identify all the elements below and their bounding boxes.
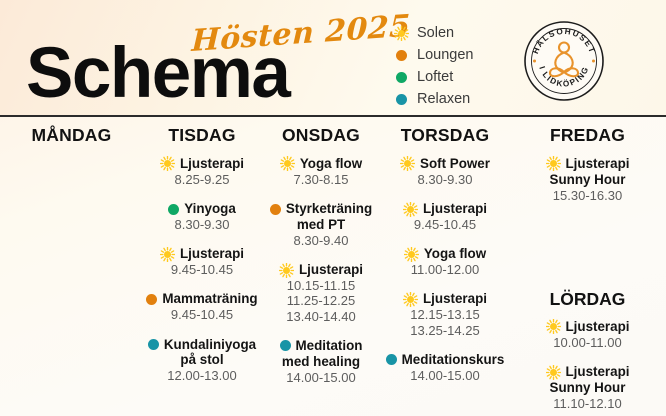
legend: SolenLoungenLoftetRelaxen: [392, 22, 502, 110]
event-time: 13.25-14.25: [381, 323, 509, 338]
event-list: Yoga flow7.30-8.15Styrketräningmed PT8.3…: [261, 156, 381, 385]
event-time: 8.30-9.30: [381, 172, 509, 187]
schedule-event[interactable]: Ljusterapi9.45-10.45: [381, 201, 509, 232]
legend-marker: [392, 94, 410, 105]
page-title: Schema: [26, 38, 289, 109]
event-title: Ljusterapi: [566, 319, 630, 335]
event-title-line: Ljusterapi: [143, 246, 261, 262]
schedule-event[interactable]: Ljusterapi12.15-13.1513.25-14.25: [381, 291, 509, 337]
schedule-event[interactable]: Yinyoga8.30-9.30: [143, 201, 261, 232]
event-title-line: Ljusterapi: [143, 156, 261, 172]
event-time: 11.00-12.00: [381, 262, 509, 277]
event-title-line: Yinyoga: [143, 201, 261, 217]
event-title: Ljusterapi: [423, 291, 487, 307]
day-header: TORSDAG: [381, 125, 509, 146]
legend-item-relaxen: Relaxen: [392, 88, 502, 110]
event-time: 15.30-16.30: [509, 188, 666, 203]
event-title-second-line: med PT: [261, 217, 381, 233]
event-title: Ljusterapi: [423, 201, 487, 217]
event-time: 9.45-10.45: [143, 262, 261, 277]
schedule-event[interactable]: Meditationmed healing14.00-15.00: [261, 338, 381, 385]
schedule-event[interactable]: Styrketräningmed PT8.30-9.40: [261, 201, 381, 248]
event-time: 11.10-12.10: [509, 396, 666, 411]
legend-marker: [392, 26, 410, 41]
event-title: Meditation: [296, 338, 363, 354]
schedule-event[interactable]: Kundaliniyogapå stol12.00-13.00: [143, 337, 261, 384]
orange-dot-icon: [270, 204, 281, 215]
event-title-line: Kundaliniyoga: [143, 337, 261, 353]
event-time: 14.00-15.00: [261, 370, 381, 385]
legend-item-label: Relaxen: [417, 91, 470, 107]
event-title-line: Ljusterapi: [381, 291, 509, 307]
event-time: 13.40-14.40: [261, 309, 381, 324]
schedule-event[interactable]: LjusterapiSunny Hour15.30-16.30: [509, 156, 666, 203]
sun-icon: [279, 263, 294, 278]
day-header: ONSDAG: [261, 125, 381, 146]
teal-dot-icon: [396, 94, 407, 105]
schedule-event[interactable]: Yoga flow11.00-12.00: [381, 246, 509, 277]
sun-icon: [546, 365, 561, 380]
sun-icon: [404, 247, 419, 262]
logo-svg: HÄLSOHUSET I LIDKÖPING: [522, 19, 606, 103]
event-title: Ljusterapi: [566, 156, 630, 172]
day-header: FREDAG: [509, 125, 666, 146]
event-title-line: Styrketräning: [261, 201, 381, 217]
poster-header: Hösten 2025 Schema SolenLoungenLoftetRel…: [0, 0, 666, 117]
orange-dot-icon: [396, 50, 407, 61]
legend-item-solen: Solen: [392, 22, 502, 44]
event-title: Yoga flow: [424, 246, 486, 262]
event-title-second-line: Sunny Hour: [509, 380, 666, 396]
event-title-line: Ljusterapi: [381, 201, 509, 217]
event-time: 12.00-13.00: [143, 368, 261, 383]
event-list-secondary: Ljusterapi10.00-11.00 LjusterapiSunny Ho…: [509, 319, 666, 411]
event-title: Yoga flow: [300, 156, 362, 172]
sun-icon: [280, 156, 295, 171]
schedule-event[interactable]: Ljusterapi10.00-11.00: [509, 319, 666, 350]
event-title-line: Meditationskurs: [381, 352, 509, 368]
day-column-torsdag: TORSDAG Soft Power8.30-9.30 Ljusterapi9.…: [381, 119, 509, 416]
event-time: 14.00-15.00: [381, 368, 509, 383]
schedule-event[interactable]: Meditationskurs14.00-15.00: [381, 352, 509, 383]
event-time: 8.30-9.30: [143, 217, 261, 232]
schedule-event[interactable]: LjusterapiSunny Hour11.10-12.10: [509, 364, 666, 411]
event-title-line: Soft Power: [381, 156, 509, 172]
sun-icon: [403, 202, 418, 217]
event-title: Ljusterapi: [180, 246, 244, 262]
event-time: 11.25-12.25: [261, 293, 381, 308]
event-title-line: Ljusterapi: [261, 262, 381, 278]
legend-marker: [392, 72, 410, 83]
day-header-secondary: LÖRDAG: [509, 289, 666, 310]
legend-item-loftet: Loftet: [392, 66, 502, 88]
event-title: Styrketräning: [286, 201, 372, 217]
event-time: 8.25-9.25: [143, 172, 261, 187]
event-time: 10.15-11.15: [261, 278, 381, 293]
event-list: LjusterapiSunny Hour15.30-16.30: [509, 156, 666, 203]
event-title-second-line: Sunny Hour: [509, 172, 666, 188]
event-title-second-line: med healing: [261, 354, 381, 370]
event-time: 8.30-9.40: [261, 233, 381, 248]
event-title-second-line: på stol: [143, 352, 261, 368]
day-header: TISDAG: [143, 125, 261, 146]
column-spacer: [509, 217, 666, 289]
green-dot-icon: [168, 204, 179, 215]
event-title-line: Yoga flow: [261, 156, 381, 172]
event-list: Ljusterapi8.25-9.25Yinyoga8.30-9.30 Ljus…: [143, 156, 261, 384]
legend-item-label: Loftet: [417, 69, 453, 85]
day-column-måndag: MÅNDAG: [0, 119, 143, 416]
sun-icon: [400, 156, 415, 171]
schedule-event[interactable]: Ljusterapi8.25-9.25: [143, 156, 261, 187]
sun-icon: [546, 156, 561, 171]
sun-icon: [160, 156, 175, 171]
legend-item-label: Solen: [417, 25, 454, 41]
event-title: Ljusterapi: [299, 262, 363, 278]
event-title: Kundaliniyoga: [164, 337, 256, 353]
schedule-poster: Hösten 2025 Schema SolenLoungenLoftetRel…: [0, 0, 666, 416]
event-list: Soft Power8.30-9.30 Ljusterapi9.45-10.45…: [381, 156, 509, 383]
event-title: Yinyoga: [184, 201, 236, 217]
event-title: Ljusterapi: [180, 156, 244, 172]
event-title-line: Ljusterapi: [509, 319, 666, 335]
day-column-tisdag: TISDAG Ljusterapi8.25-9.25Yinyoga8.30-9.…: [143, 119, 261, 416]
event-title: Mammaträning: [162, 291, 257, 307]
day-column-onsdag: ONSDAG Yoga flow7.30-8.15Styrketräningme…: [261, 119, 381, 416]
event-title: Meditationskurs: [402, 352, 505, 368]
event-title-line: Meditation: [261, 338, 381, 354]
sun-icon: [546, 319, 561, 334]
event-title-line: Yoga flow: [381, 246, 509, 262]
event-time: 9.45-10.45: [143, 307, 261, 322]
legend-item-label: Loungen: [417, 47, 473, 63]
event-time: 9.45-10.45: [381, 217, 509, 232]
sun-icon: [403, 292, 418, 307]
orange-dot-icon: [146, 294, 157, 305]
schedule-event[interactable]: Ljusterapi10.15-11.1511.25-12.2513.40-14…: [261, 262, 381, 324]
legend-marker: [392, 50, 410, 61]
day-header: MÅNDAG: [0, 125, 143, 146]
event-time: 12.15-13.15: [381, 307, 509, 322]
title-block: Hösten 2025 Schema: [26, 10, 386, 110]
teal-dot-icon: [386, 354, 397, 365]
day-column-fredag: FREDAG LjusterapiSunny Hour15.30-16.30LÖ…: [509, 119, 666, 416]
legend-item-loungen: Loungen: [392, 44, 502, 66]
logo: HÄLSOHUSET I LIDKÖPING: [522, 19, 606, 103]
sun-icon: [160, 247, 175, 262]
event-title-line: Ljusterapi: [509, 156, 666, 172]
schedule-event[interactable]: Soft Power8.30-9.30: [381, 156, 509, 187]
event-title: Soft Power: [420, 156, 490, 172]
schedule-event[interactable]: Ljusterapi9.45-10.45: [143, 246, 261, 277]
schedule-event[interactable]: Mammaträning9.45-10.45: [143, 291, 261, 322]
sun-icon: [394, 26, 409, 41]
teal-dot-icon: [148, 339, 159, 350]
event-time: 10.00-11.00: [509, 335, 666, 350]
teal-dot-icon: [280, 340, 291, 351]
event-time: 7.30-8.15: [261, 172, 381, 187]
green-dot-icon: [396, 72, 407, 83]
event-title-line: Ljusterapi: [509, 364, 666, 380]
event-title-line: Mammaträning: [143, 291, 261, 307]
schedule-event[interactable]: Yoga flow7.30-8.15: [261, 156, 381, 187]
schedule-grid: MÅNDAGTISDAG Ljusterapi8.25-9.25Yinyoga8…: [0, 119, 666, 416]
event-title: Ljusterapi: [566, 364, 630, 380]
